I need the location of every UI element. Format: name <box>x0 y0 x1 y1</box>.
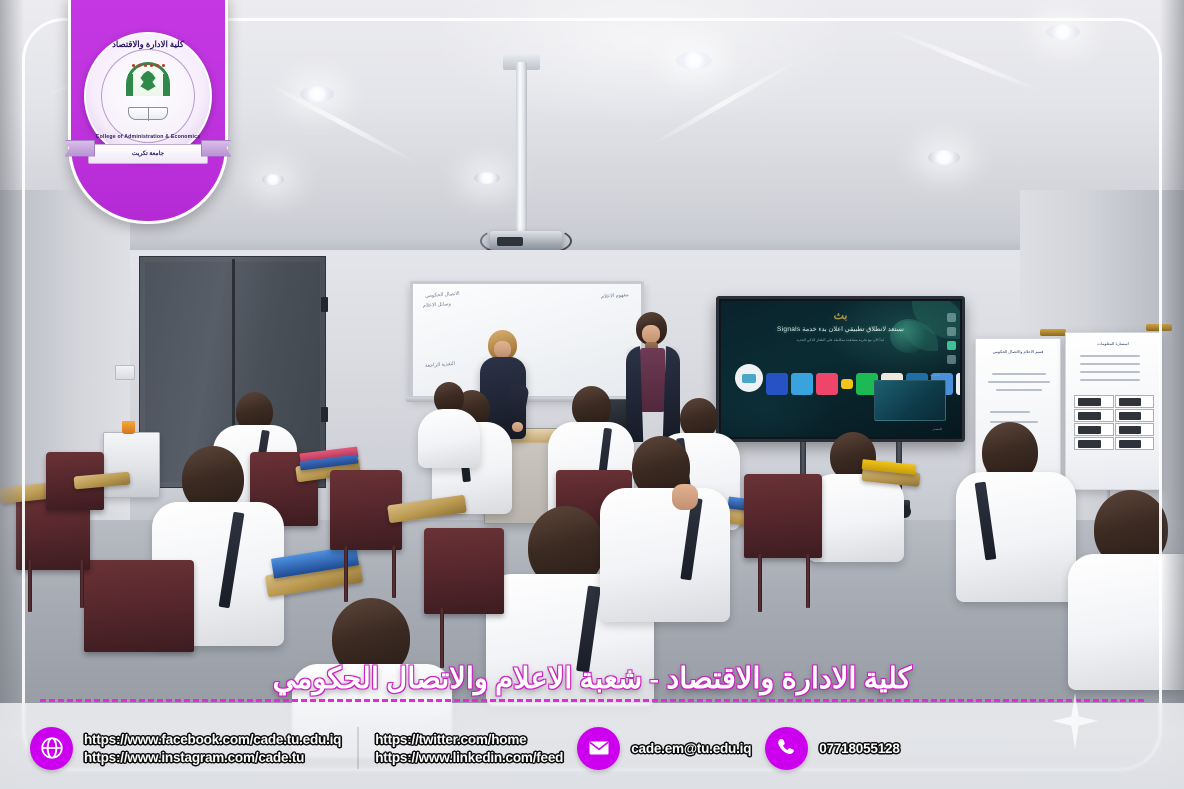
face <box>642 325 660 343</box>
chair-leg <box>806 554 810 608</box>
poster-rule <box>1080 379 1140 381</box>
tv-app-icon[interactable] <box>816 373 838 395</box>
footer-separator <box>357 727 359 769</box>
torso-uniform <box>418 409 480 468</box>
tv-screen: بث نستعد لانطلاق تطبيقي اعلان بدء خدمة S… <box>721 301 960 437</box>
tv-subtext: ابدأ الان مع تجربة مشاهدة متكاملة على ال… <box>721 338 960 342</box>
student-chair <box>84 560 194 652</box>
tv-home-glyph <box>742 374 756 383</box>
poster-rule <box>1080 363 1140 365</box>
tv-home-button[interactable] <box>735 364 763 392</box>
poster-table-cell <box>1115 423 1155 436</box>
social-group-twitter-linkedin: https://twitter.com/home https://www.lin… <box>375 732 563 765</box>
tv-rail-item[interactable] <box>947 341 956 350</box>
chair-leg <box>344 546 348 602</box>
torso-uniform <box>808 474 904 562</box>
facebook-link[interactable]: https://www.facebook.com/cade.tu.edu.iq <box>84 732 341 747</box>
poster-table-cell <box>1074 395 1114 408</box>
chair-leg <box>28 560 32 612</box>
tv-preview-label: المعاينة <box>930 373 940 377</box>
tv-app-icon[interactable] <box>791 373 813 395</box>
poster-clip <box>1146 324 1172 331</box>
ceiling-light <box>474 172 500 184</box>
ribbon-wing-right <box>201 140 231 157</box>
chair-leg <box>440 608 444 668</box>
torso-uniform <box>600 488 730 622</box>
door-hinge <box>321 297 328 312</box>
chair-leg <box>80 560 84 608</box>
tv-preview-thumb[interactable] <box>874 380 946 421</box>
tv-rail-item[interactable] <box>947 327 956 336</box>
dashed-divider <box>40 699 1144 702</box>
open-book-icon <box>128 107 168 120</box>
tv-app-icon[interactable] <box>766 373 788 395</box>
door-hinge <box>321 407 328 422</box>
email-group: cade.em@tu.edu.iq <box>577 727 751 770</box>
tv-brand-mark: بث <box>834 309 848 322</box>
tv-source-label: المصدر <box>932 427 942 431</box>
title-band: كلية الادارة والاقتصاد - شعبة الاعلام وا… <box>0 661 1184 696</box>
empty-chair <box>744 474 822 558</box>
student <box>808 432 904 562</box>
poster-table-cell <box>1115 409 1155 422</box>
empty-chair <box>424 528 504 614</box>
student <box>418 382 480 468</box>
social-group-web: https://www.facebook.com/cade.tu.edu.iq … <box>30 727 341 770</box>
tv-headline: نستعد لانطلاق تطبيقي اعلان بدء خدمة Sign… <box>721 325 960 333</box>
ceiling-light <box>1046 24 1080 40</box>
poster-heading: قسم الاعلام والاتصال الحكومي <box>976 349 1060 354</box>
poster-rule <box>988 381 1050 383</box>
contact-footer: https://www.facebook.com/cade.tu.edu.iq … <box>0 703 1184 789</box>
twitter-link[interactable]: https://twitter.com/home <box>375 732 563 747</box>
college-seal: كلية الادارة والاقتصاد College of Admini… <box>84 32 212 160</box>
poster-rule <box>1080 355 1140 357</box>
whiteboard-note: مفهوم الاعلام <box>601 292 629 301</box>
tv-side-rail <box>944 313 958 364</box>
email-address[interactable]: cade.em@tu.edu.iq <box>631 741 751 756</box>
tv-rail-item[interactable] <box>947 355 956 364</box>
page-title: كلية الادارة والاقتصاد - شعبة الاعلام وا… <box>273 661 912 696</box>
ceiling-light <box>300 86 334 102</box>
hand <box>672 484 698 510</box>
tv-app-icon[interactable] <box>841 379 853 389</box>
whiteboard-note: التغذية الراجعة <box>425 361 455 370</box>
linkedin-link[interactable]: https://www.linkedin.com/feed <box>375 750 563 765</box>
pillar-left <box>128 74 133 96</box>
arch-dots <box>132 64 165 67</box>
phone-group: 07718055128 <box>765 727 899 770</box>
poster-board-right: استمارة المعلومات <box>1065 332 1161 490</box>
poster-table-cell <box>1115 437 1155 450</box>
smart-tv: بث نستعد لانطلاق تطبيقي اعلان بدء خدمة S… <box>716 296 965 442</box>
projector-pole <box>516 62 527 234</box>
student <box>1068 490 1184 690</box>
poster-rule <box>1080 371 1140 373</box>
web-links: https://www.facebook.com/cade.tu.edu.iq … <box>84 732 341 765</box>
poster-heading: استمارة المعلومات <box>1066 341 1160 346</box>
chair-leg <box>758 554 762 612</box>
seal-ribbon: جامعة تكريت <box>88 144 208 164</box>
poster-table-cell <box>1115 395 1155 408</box>
torso-uniform <box>956 472 1076 602</box>
ceiling-light <box>928 150 960 165</box>
logo-badge: كلية الادارة والاقتصاد College of Admini… <box>68 0 228 224</box>
seal-english-text: College of Administration & Economics <box>84 134 212 140</box>
poster-rule <box>990 411 1030 413</box>
tv-app-icon[interactable] <box>956 373 960 395</box>
whiteboard-note: وسائل الاعلام <box>423 301 451 310</box>
light-switch[interactable] <box>115 365 135 380</box>
phone-number[interactable]: 07718055128 <box>819 741 899 756</box>
globe-icon[interactable] <box>30 727 73 770</box>
poster-table-cell <box>1074 423 1114 436</box>
poster-table <box>1074 395 1154 450</box>
poster-rule <box>996 389 1042 391</box>
orange-cup <box>122 421 135 434</box>
phone-icon[interactable] <box>765 727 808 770</box>
poster-clip <box>1040 329 1066 336</box>
poster-rule <box>992 373 1046 375</box>
hand <box>512 422 523 432</box>
envelope-icon[interactable] <box>577 727 620 770</box>
poster-root: الاتصال الحكومي وسائل الاعلام مفهوم الاع… <box>0 0 1184 789</box>
ribbon-text: جامعة تكريت <box>132 150 164 157</box>
ceiling-light <box>676 52 712 69</box>
instagram-link[interactable]: https://www.instagram.com/cade.tu <box>84 750 341 765</box>
seal-arabic-text: كلية الادارة والاقتصاد <box>84 39 212 50</box>
face <box>494 341 511 358</box>
chair-leg <box>392 546 396 598</box>
tv-rail-item[interactable] <box>947 313 956 322</box>
seal-motif <box>122 62 174 120</box>
whiteboard-note: الاتصال الحكومي <box>425 291 460 301</box>
poster-table-cell <box>1074 409 1114 422</box>
student <box>600 436 730 622</box>
ribbon-wing-left <box>65 140 95 157</box>
poster-table-cell <box>1074 437 1114 450</box>
student <box>956 422 1076 602</box>
footer-contact-row: https://www.facebook.com/cade.tu.edu.iq … <box>0 717 1184 779</box>
ceiling-light <box>262 174 284 185</box>
tv-bezel: بث نستعد لانطلاق تطبيقي اعلان بدء خدمة S… <box>716 296 965 442</box>
social-links: https://twitter.com/home https://www.lin… <box>375 732 563 765</box>
pillar-right <box>163 74 168 96</box>
